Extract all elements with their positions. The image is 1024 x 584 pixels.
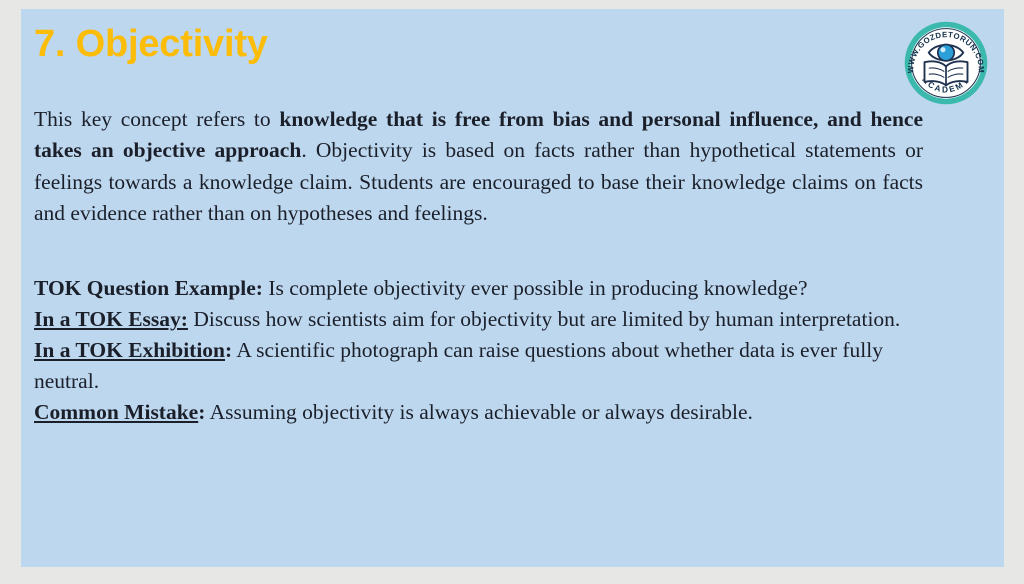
list-item: In a TOK Exhibition: A scientific photog… [34,335,939,397]
concept-paragraph: This key concept refers to knowledge tha… [34,104,923,230]
academy-logo: WWW.GOZDETORUN.COM ACADEMY [903,20,989,106]
presentation-slide: 7. Objectivity This key concept refers t… [21,9,1004,567]
paragraph-text-lead: This key concept refers to [34,107,279,131]
screenshot-page: 7. Objectivity This key concept refers t… [0,0,1024,584]
tok-guidance-list: TOK Question Example: Is complete object… [34,273,939,428]
list-item: Common Mistake: Assuming objectivity is … [34,397,939,428]
tok-question-example-text: Is complete objectivity ever possible in… [263,276,808,300]
common-mistake-text: Assuming objectivity is always achievabl… [205,400,753,424]
list-item: In a TOK Essay: Discuss how scientists a… [34,304,939,335]
page-title: 7. Objectivity [34,23,268,67]
tok-essay-label: In a TOK Essay: [34,307,188,331]
common-mistake-label: Common Mistake [34,400,198,424]
tok-question-example-label: TOK Question Example: [34,276,263,300]
academy-logo-icon: WWW.GOZDETORUN.COM ACADEMY [903,20,989,106]
tok-essay-text: Discuss how scientists aim for objectivi… [188,307,900,331]
concept-description-block: This key concept refers to knowledge tha… [34,104,923,230]
list-item: TOK Question Example: Is complete object… [34,273,939,304]
eye-icon [929,45,963,61]
tok-exhibition-label: In a TOK Exhibition [34,338,225,362]
